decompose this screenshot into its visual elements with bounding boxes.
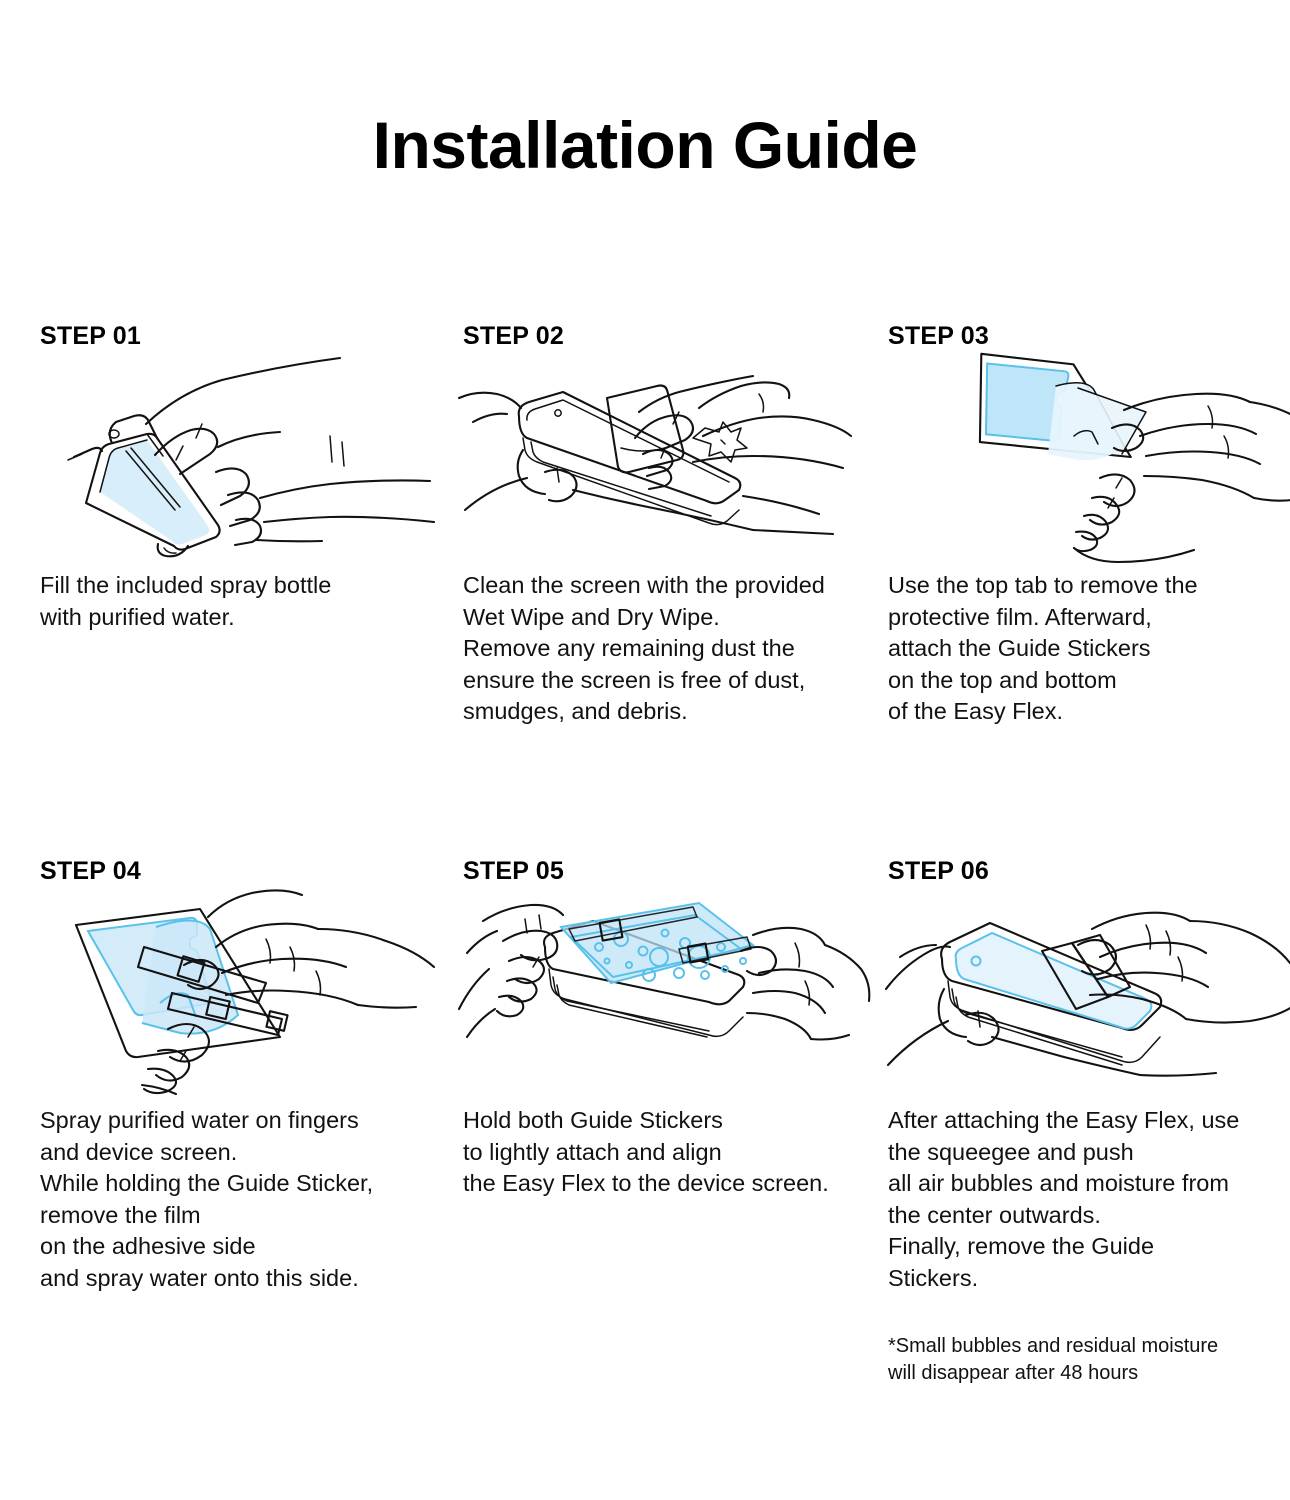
step-body-01: Fill the included spray bottle with puri…	[40, 570, 440, 633]
step-card-01: STEP 01	[40, 322, 460, 857]
step-card-03: STEP 03	[888, 322, 1290, 857]
step-label-06: STEP 06	[888, 857, 989, 886]
illustration-hand-removing-adhesive-film-with-guide-sticker	[30, 885, 450, 1100]
step-body-06: After attaching the Easy Flex, use the s…	[888, 1105, 1288, 1294]
illustration-hand-holding-spray-bottle	[30, 350, 450, 565]
steps-row-1: STEP 01	[0, 322, 1290, 857]
step-card-02: STEP 02	[463, 322, 883, 857]
steps-grid: STEP 01	[0, 322, 1290, 1392]
step-label-02: STEP 02	[463, 322, 564, 351]
step-body-04: Spray purified water on fingers and devi…	[40, 1105, 440, 1294]
step-body-02: Clean the screen with the provided Wet W…	[463, 570, 863, 728]
illustration-hand-squeegee-pushing-bubbles	[878, 885, 1290, 1100]
illustration-two-hands-aligning-easy-flex-on-screen	[453, 885, 873, 1100]
steps-row-2: STEP 04	[0, 857, 1290, 1392]
step-card-05: STEP 05	[463, 857, 883, 1392]
step-body-05: Hold both Guide Stickers to lightly atta…	[463, 1105, 863, 1200]
illustration-hand-peeling-protective-film	[878, 350, 1290, 565]
step-body-03: Use the top tab to remove the protective…	[888, 570, 1288, 728]
step-footnote-06: *Small bubbles and residual moisture wil…	[888, 1333, 1288, 1387]
illustration-hands-wiping-phone-screen	[453, 350, 873, 565]
step-label-04: STEP 04	[40, 857, 141, 886]
step-label-05: STEP 05	[463, 857, 564, 886]
step-card-06: STEP 06	[888, 857, 1290, 1392]
step-label-01: STEP 01	[40, 322, 141, 351]
step-label-03: STEP 03	[888, 322, 989, 351]
page-title: Installation Guide	[0, 112, 1290, 178]
step-card-04: STEP 04	[40, 857, 460, 1392]
